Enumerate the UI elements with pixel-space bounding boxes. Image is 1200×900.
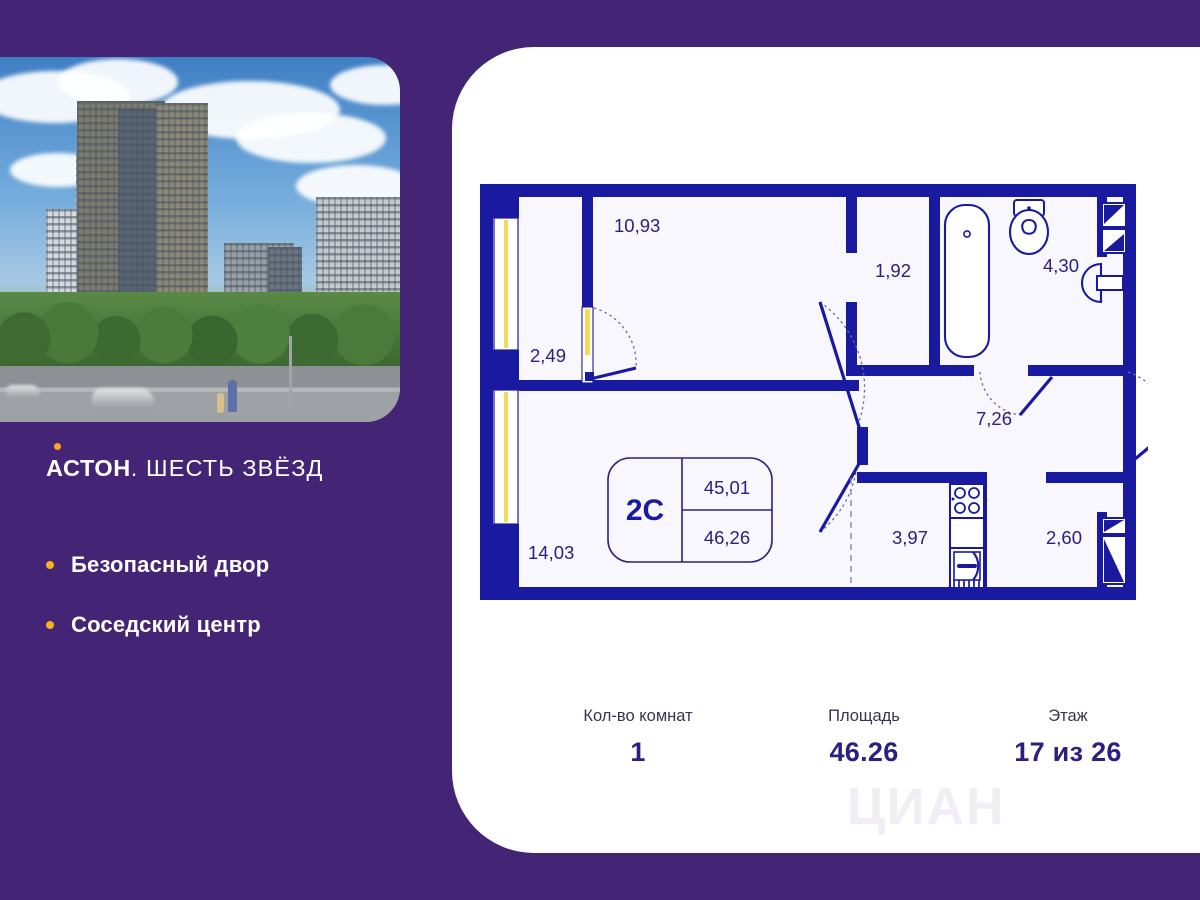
interior-wall [1046, 472, 1123, 483]
interior-wall [857, 365, 929, 376]
room-area-bathroom: 4,30 [1043, 255, 1079, 276]
stat-area-value: 46.26 [764, 737, 964, 768]
stat-rooms-label: Кол-во комнат [512, 707, 764, 726]
car-shape [92, 388, 154, 408]
list-item: Безопасный двор [46, 552, 269, 578]
cloud-shape [58, 59, 178, 105]
interior-wall [519, 380, 859, 391]
bullet-icon [46, 561, 54, 569]
wall-pier [493, 350, 519, 390]
room-area-main-room: 14,03 [528, 542, 574, 563]
stove-icon [950, 484, 984, 518]
door-jamb [857, 427, 868, 465]
interior-wall [1028, 365, 1123, 376]
sink-basin-icon [1097, 276, 1123, 290]
door-leaf [585, 309, 590, 355]
car-shape [6, 385, 40, 398]
stat-area: Площадь 46.26 [764, 707, 964, 768]
badge-type: 2С [626, 494, 664, 527]
list-item: Соседский центр [46, 612, 269, 638]
road [0, 366, 400, 422]
person-figure [228, 380, 237, 412]
room-area-entry: 2,49 [530, 345, 566, 366]
interior-wall [857, 472, 987, 483]
watermark-text: ЦИАН [847, 777, 1005, 837]
left-info-panel: АСТОН . ШЕСТЬ ЗВЁЗД Безопасный двор Сосе… [0, 0, 440, 900]
summary-stats: Кол-во комнат 1 Площадь 46.26 Этаж 17 из… [512, 707, 1172, 768]
floorplan-card: ЦИАН .w { fill:#1A1AA0; } .rm { fill:#F7… [452, 47, 1200, 853]
stat-floor-label: Этаж [964, 707, 1172, 726]
floorplan-diagram: .w { fill:#1A1AA0; } .rm { fill:#F7F7FD;… [468, 172, 1148, 612]
window-glass [504, 220, 508, 348]
room-area-kitchen: 3,97 [892, 527, 928, 548]
interior-wall [929, 365, 974, 376]
wall-pier [493, 524, 519, 600]
room-area-closet: 1,92 [875, 260, 911, 281]
stat-floor: Этаж 17 из 26 [964, 707, 1172, 768]
bathtub-icon [945, 205, 989, 357]
interior-wall [582, 197, 593, 307]
badge-area-total: 46,26 [704, 527, 750, 548]
brand-name-bold: АСТОН [46, 455, 131, 482]
door-stop [585, 372, 594, 381]
stat-floor-value: 17 из 26 [964, 737, 1172, 768]
room-area-corridor: 7,26 [976, 408, 1012, 429]
interior-wall [846, 302, 857, 376]
toilet-icon [1010, 210, 1048, 254]
room-area-vestibule: 2,60 [1046, 527, 1082, 548]
stat-area-label: Площадь [764, 707, 964, 726]
room-area-living: 10,93 [614, 215, 660, 236]
treeline [0, 292, 400, 370]
cloud-shape [330, 65, 400, 105]
feature-label: Безопасный двор [71, 552, 269, 578]
stat-rooms: Кол-во комнат 1 [512, 707, 764, 768]
stat-rooms-value: 1 [512, 737, 764, 768]
interior-wall [846, 197, 857, 253]
wall-pier [493, 184, 519, 218]
interior-wall [929, 197, 940, 376]
building-render-photo [0, 57, 400, 422]
feature-label: Соседский центр [71, 612, 261, 638]
person-figure [217, 393, 224, 413]
brand-logo: АСТОН . ШЕСТЬ ЗВЁЗД [46, 455, 324, 482]
brand-name-rest: . ШЕСТЬ ЗВЁЗД [131, 455, 324, 482]
door-jamb [1123, 457, 1136, 471]
orange-dot-icon [54, 443, 61, 450]
bullet-icon [46, 621, 54, 629]
badge-area-living: 45,01 [704, 477, 750, 498]
cloud-shape [236, 113, 386, 163]
feature-list: Безопасный двор Соседский центр [46, 552, 269, 672]
counter-icon [950, 518, 984, 548]
window-glass [504, 392, 508, 522]
lamp-post [289, 336, 292, 410]
